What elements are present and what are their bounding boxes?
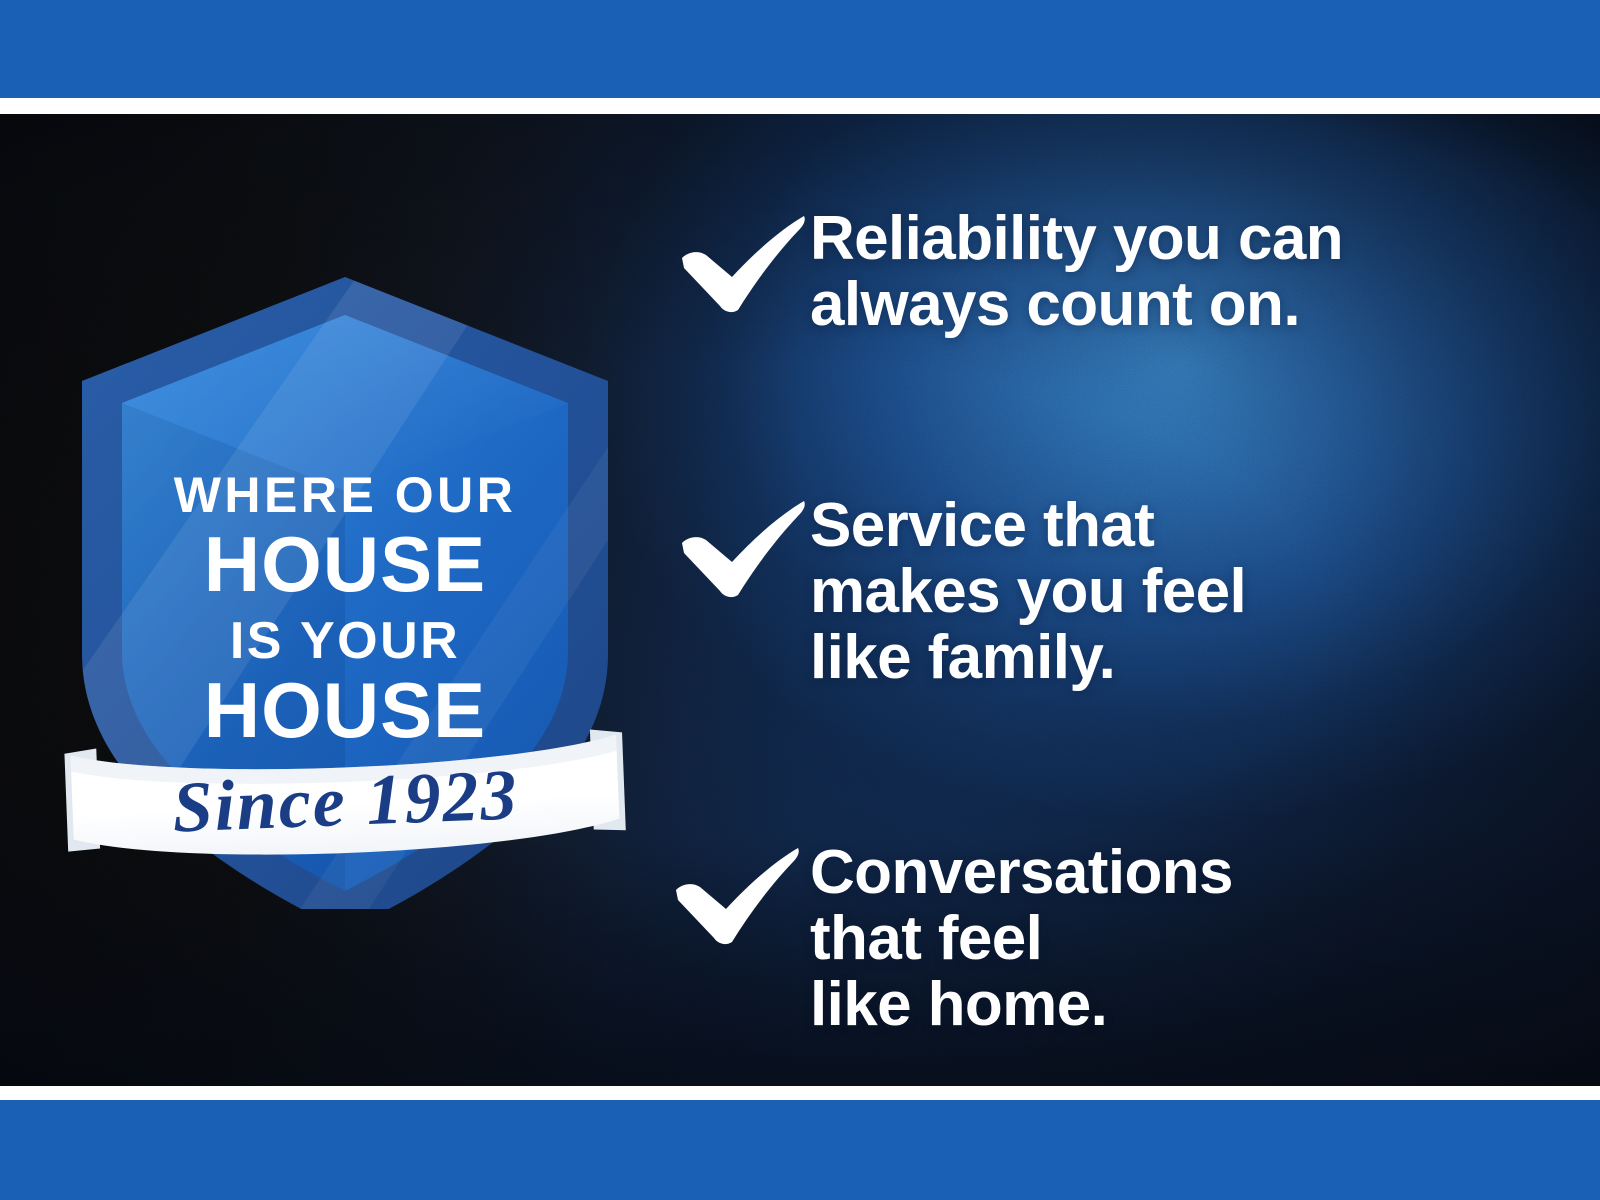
checkmark-icon <box>660 838 810 942</box>
benefit-item: Conversations that feel like home. <box>660 838 1570 1039</box>
checkmark-icon <box>660 491 810 595</box>
benefit-text: Reliability you can always count on. <box>810 204 1570 339</box>
benefit-item: Service that makes you feel like family. <box>660 491 1570 692</box>
top-brand-bar <box>0 0 1600 98</box>
benefit-text: Conversations that feel like home. <box>810 838 1570 1039</box>
benefit-text: Service that makes you feel like family. <box>810 491 1570 692</box>
promo-graphic: WHERE OUR HOUSE IS YOUR HOUSE Since 1923 <box>0 0 1600 1200</box>
benefits-list: Reliability you can always count on. Ser… <box>660 204 1570 1039</box>
content-canvas: WHERE OUR HOUSE IS YOUR HOUSE Since 1923 <box>0 114 1600 1086</box>
badge-logo: WHERE OUR HOUSE IS YOUR HOUSE Since 1923 <box>60 269 630 909</box>
badge-line-4: HOUSE <box>204 666 486 754</box>
badge-line-1: WHERE OUR <box>174 467 517 523</box>
ribbon-script-text: Since 1923 <box>171 754 520 847</box>
top-white-divider <box>0 98 1600 114</box>
bottom-white-divider <box>0 1086 1600 1100</box>
bottom-brand-bar <box>0 1100 1600 1200</box>
badge-line-2: HOUSE <box>204 520 486 608</box>
checkmark-icon <box>660 204 810 308</box>
badge-line-3: IS YOUR <box>230 612 460 670</box>
benefit-item: Reliability you can always count on. <box>660 204 1570 339</box>
